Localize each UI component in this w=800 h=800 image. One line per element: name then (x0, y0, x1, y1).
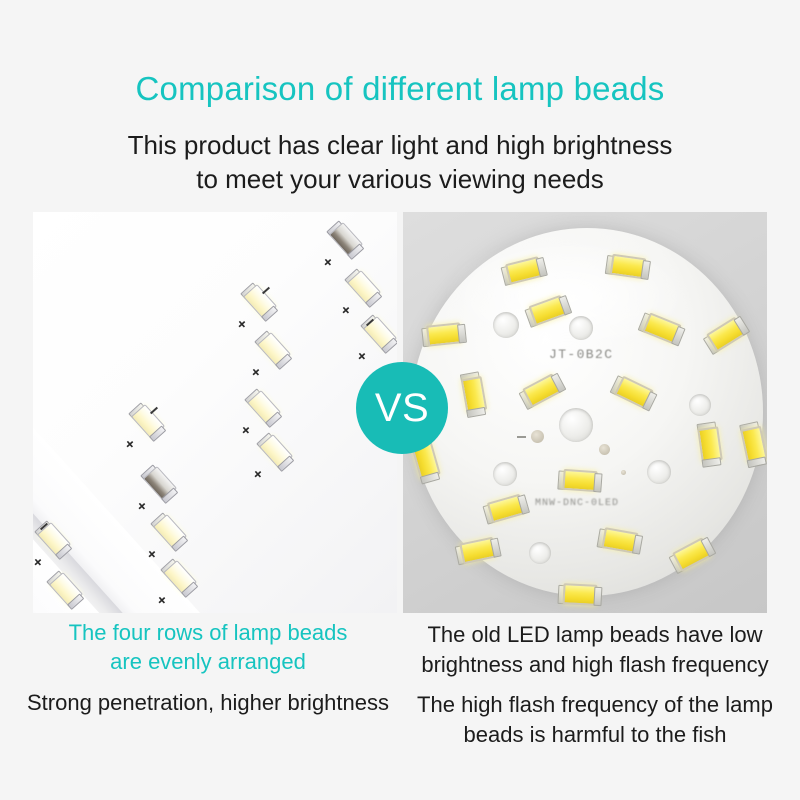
right-caption-detail-line-1: The old LED lamp beads have low (404, 620, 786, 650)
mounting-hole (493, 462, 517, 486)
mounting-hole (529, 542, 551, 564)
right-caption-detail-line-2: brightness and high flash frequency (404, 650, 786, 680)
polarity-mark: + (336, 301, 354, 319)
polarity-mark: + (232, 315, 250, 333)
lamp-bead (257, 332, 291, 367)
polarity-mark: + (246, 363, 264, 381)
subtitle-line-2: to meet your various viewing needs (0, 162, 800, 196)
polarity-mark: + (132, 497, 150, 515)
left-caption-detail: Strong penetration, higher brightness (18, 688, 398, 718)
left-caption-highlight-line-1: The four rows of lamp beads (18, 618, 398, 647)
infographic-page: Comparison of different lamp beads This … (0, 0, 800, 800)
led-disc-image: JT-0B2C MNW-DNC-0LED (403, 212, 767, 613)
lamp-bead (259, 434, 293, 469)
left-product-photo: + + + + + + + (33, 212, 397, 613)
mounting-hole (647, 460, 671, 484)
left-caption-detail-line-1: Strong penetration, higher brightness (18, 688, 398, 718)
old-lamp-bead (562, 469, 597, 492)
polarity-mark: + (248, 465, 266, 483)
disc-highlight (443, 236, 693, 356)
lamp-bead (143, 466, 177, 501)
old-lamp-bead (697, 426, 723, 463)
old-lamp-bead (610, 254, 647, 280)
lamp-bead (131, 404, 165, 439)
solder-dot (599, 444, 610, 455)
polarity-mark: + (236, 421, 254, 439)
lamp-bead (329, 222, 363, 257)
page-title: Comparison of different lamp beads (0, 70, 800, 108)
lamp-bead (243, 284, 277, 319)
left-caption-highlight-line-2: are evenly arranged (18, 647, 398, 676)
polarity-mark: + (352, 347, 370, 365)
solder-dot (621, 470, 626, 475)
subtitle-line-1: This product has clear light and high br… (0, 128, 800, 162)
housing-band (33, 212, 397, 613)
polarity-minus-mark (517, 436, 526, 438)
silkscreen-top-text: JT-0B2C (549, 347, 613, 362)
left-caption-highlight: The four rows of lamp beads are evenly a… (18, 618, 398, 676)
polarity-mark: + (318, 253, 336, 271)
lamp-bead (153, 514, 187, 549)
solder-dot (531, 430, 544, 443)
lamp-bar-image: + + + + + + + (33, 212, 397, 613)
right-caption-detail-line-3: The high flash frequency of the lamp (404, 690, 786, 720)
mounting-hole (569, 316, 593, 340)
center-hole (559, 408, 593, 442)
mounting-hole (689, 394, 711, 416)
old-lamp-bead (562, 583, 597, 606)
silkscreen-bottom-text: MNW-DNC-0LED (535, 498, 619, 509)
right-caption-detail-primary: The old LED lamp beads have low brightne… (404, 620, 786, 680)
polarity-mark: + (120, 435, 138, 453)
old-lamp-bead (426, 322, 462, 346)
right-caption-detail-line-4: beads is harmful to the fish (404, 720, 786, 750)
right-caption-detail-secondary: The high flash frequency of the lamp bea… (404, 690, 786, 750)
lamp-bead (347, 270, 381, 305)
page-subtitle: This product has clear light and high br… (0, 128, 800, 196)
polarity-mark: + (142, 545, 160, 563)
right-product-photo: JT-0B2C MNW-DNC-0LED (403, 212, 767, 613)
vs-badge: VS (356, 362, 448, 454)
mounting-hole (493, 312, 519, 338)
lamp-bead (247, 390, 281, 425)
